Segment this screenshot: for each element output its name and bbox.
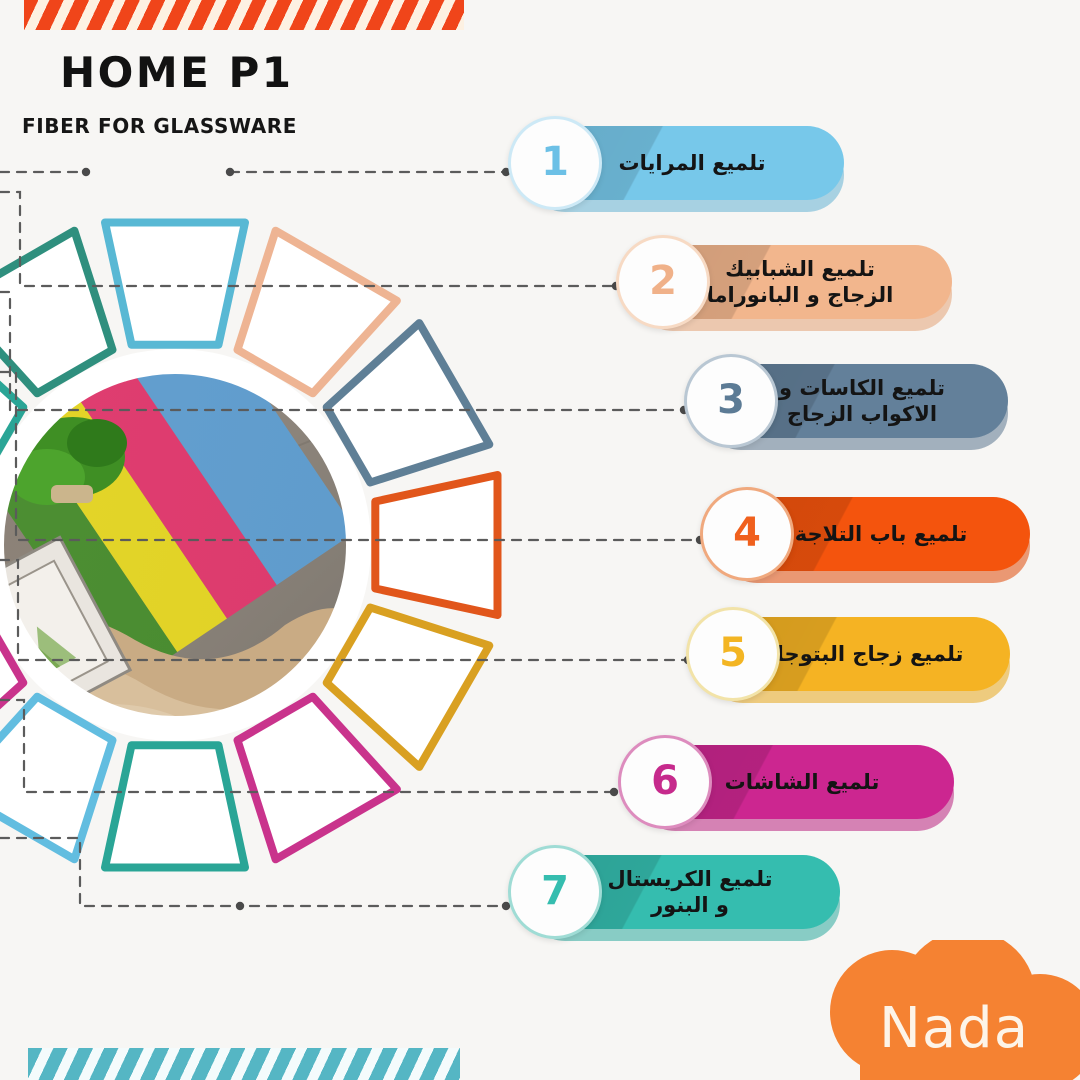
- item-label: تلميع الكاسات و الاكواب الزجاج: [761, 375, 971, 428]
- service-item[interactable]: تلميع زجاج البتوجاز5: [686, 617, 1010, 703]
- brand-name: Nada: [800, 940, 1080, 1080]
- brand-logo: Nada: [800, 940, 1080, 1080]
- item-label: تلميع المرايات: [600, 150, 791, 176]
- item-label: تلميع الكريستال و البنور: [589, 866, 798, 919]
- item-label: تلميع باب التلاجة: [777, 521, 993, 547]
- service-item-list: تلميع المرايات1تلميع الشبابيك الزجاج و ا…: [0, 0, 1080, 1080]
- service-item[interactable]: تلميع المرايات1: [508, 126, 844, 212]
- item-number: 7: [541, 871, 569, 911]
- item-number-badge[interactable]: 2: [616, 235, 710, 329]
- item-number: 2: [649, 261, 677, 301]
- item-number: 5: [719, 633, 747, 673]
- item-number: 1: [541, 142, 569, 182]
- service-item[interactable]: تلميع الكريستال و البنور7: [508, 855, 840, 941]
- item-number-badge[interactable]: 4: [700, 487, 794, 581]
- item-label: تلميع الشبابيك الزجاج و البانوراما: [689, 256, 920, 309]
- item-label: تلميع الشاشات: [707, 769, 906, 795]
- service-item[interactable]: تلميع الشاشات6: [618, 745, 954, 831]
- infographic-poster: HOME P1 FIBER FOR GLASSWARE: [0, 0, 1080, 1080]
- item-number-badge[interactable]: 1: [508, 116, 602, 210]
- item-number: 3: [717, 380, 745, 420]
- item-number: 4: [733, 513, 761, 553]
- service-item[interactable]: تلميع الشبابيك الزجاج و البانوراما2: [616, 245, 952, 331]
- item-number-badge[interactable]: 6: [618, 735, 712, 829]
- item-number-badge[interactable]: 5: [686, 607, 780, 701]
- service-item[interactable]: تلميع الكاسات و الاكواب الزجاج3: [684, 364, 1008, 450]
- item-number-badge[interactable]: 3: [684, 354, 778, 448]
- item-label: تلميع زجاج البتوجاز: [747, 641, 990, 667]
- item-number-badge[interactable]: 7: [508, 845, 602, 939]
- item-number: 6: [651, 761, 679, 801]
- service-item[interactable]: تلميع باب التلاجة4: [700, 497, 1030, 583]
